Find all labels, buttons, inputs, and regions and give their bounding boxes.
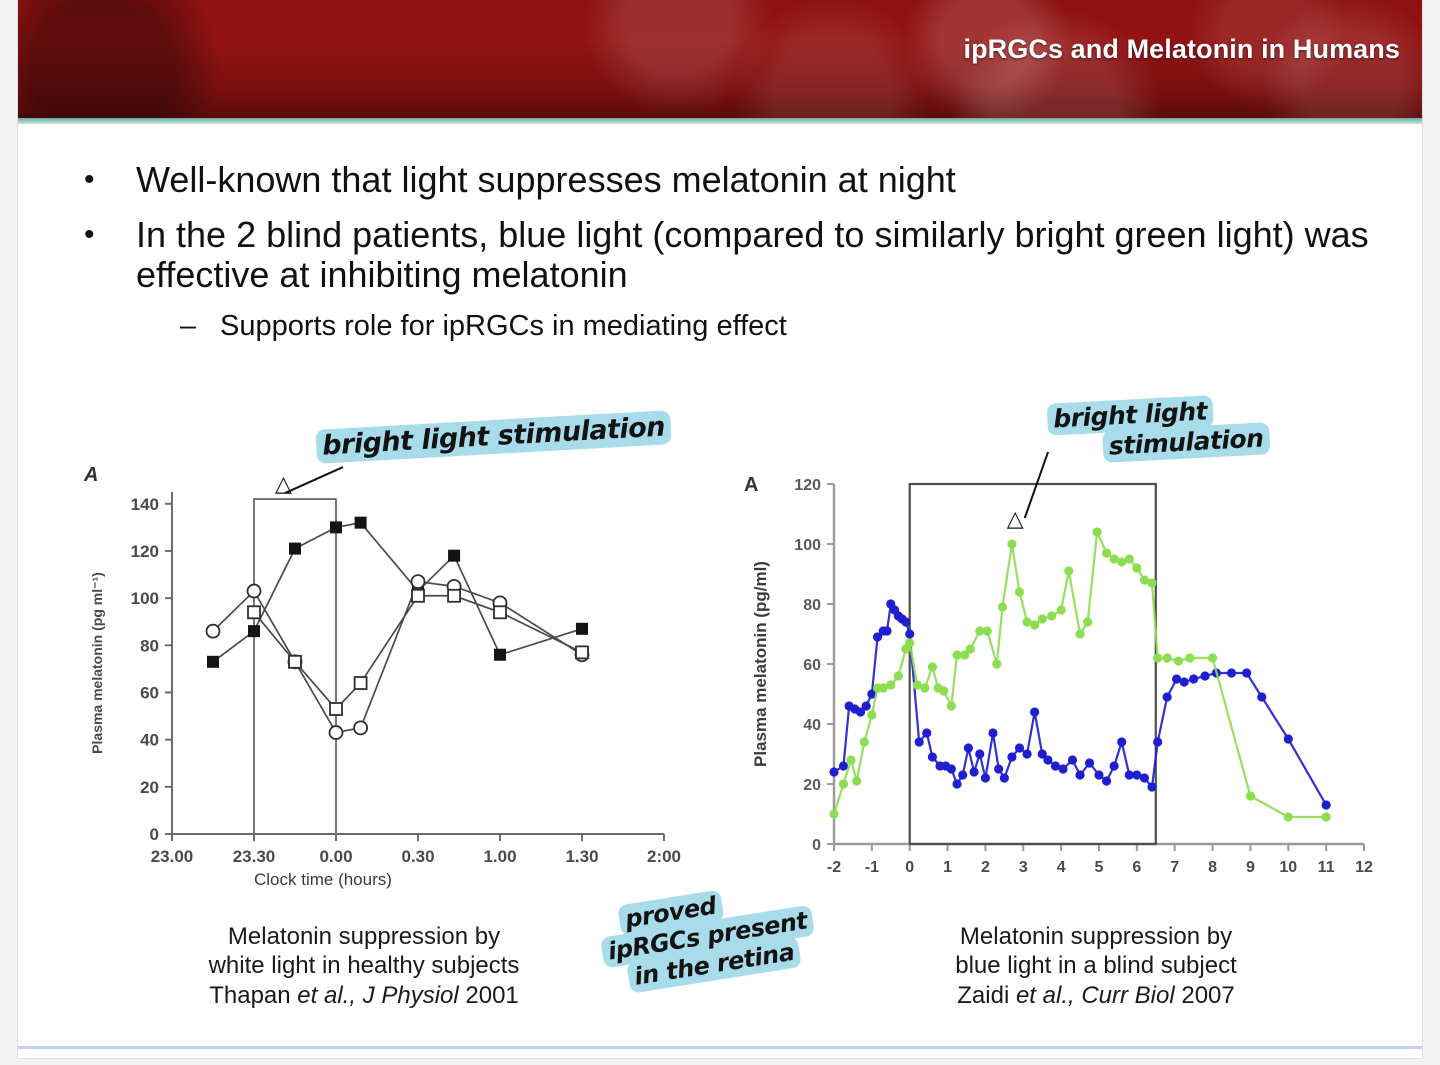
svg-text:2: 2	[981, 859, 990, 876]
svg-text:0.30: 0.30	[401, 847, 434, 866]
sub-bullet-item: – Supports role for ipRGCs in mediating …	[180, 310, 1384, 343]
slide-bottom-rule	[18, 1046, 1422, 1049]
page-title: ipRGCs and Melatonin in Humans	[963, 34, 1400, 65]
caption-line-1: Melatonin suppression by	[886, 922, 1306, 951]
left-panel-letter: A	[84, 464, 98, 487]
svg-text:120: 120	[131, 542, 159, 561]
svg-text:0.00: 0.00	[319, 847, 352, 866]
svg-text:6: 6	[1132, 859, 1141, 876]
svg-text:40: 40	[140, 731, 159, 750]
svg-text:Plasma melatonin (pg ml⁻¹): Plasma melatonin (pg ml⁻¹)	[89, 572, 105, 754]
caption-line-2: white light in healthy subjects	[154, 951, 574, 980]
header-underline	[18, 118, 1422, 124]
right-panel-letter: A	[744, 474, 758, 497]
caption-line-1: Melatonin suppression by	[154, 922, 574, 951]
right-figure-panel: A 020406080100120-2-10123456789101112Pla…	[724, 452, 1384, 892]
svg-text:20: 20	[803, 777, 821, 794]
right-chart: 020406080100120-2-10123456789101112Plasm…	[724, 452, 1384, 892]
svg-text:0: 0	[150, 825, 159, 844]
right-figure-caption: Melatonin suppression by blue light in a…	[886, 922, 1306, 1010]
caption-journal: Curr Biol	[1081, 982, 1174, 1009]
caption-author: Zaidi	[957, 982, 1009, 1009]
svg-text:40: 40	[803, 717, 821, 734]
dash-marker-icon: –	[180, 310, 220, 343]
caption-line-3: Thapan et al., J Physiol 2001	[154, 981, 574, 1010]
svg-text:23.00: 23.00	[151, 847, 194, 866]
svg-text:120: 120	[794, 477, 821, 494]
caption-etal: et al.,	[297, 982, 356, 1009]
svg-text:80: 80	[140, 636, 159, 655]
svg-text:10: 10	[1279, 859, 1297, 876]
caption-line-2: blue light in a blind subject	[886, 951, 1306, 980]
bullet-marker-icon: •	[84, 160, 136, 199]
caption-year: 2001	[465, 982, 518, 1009]
svg-text:△: △	[1007, 507, 1024, 532]
left-figure-panel: A 02040608010012014023.0023.300.000.301.…	[64, 452, 704, 892]
caption-author: Thapan	[209, 982, 290, 1009]
svg-text:0: 0	[905, 859, 914, 876]
svg-text:Plasma melatonin (pg/ml): Plasma melatonin (pg/ml)	[751, 561, 770, 767]
svg-text:11: 11	[1318, 859, 1335, 876]
left-figure-caption: Melatonin suppression by white light in …	[154, 922, 574, 1010]
svg-text:3: 3	[1019, 859, 1028, 876]
svg-text:1: 1	[943, 859, 952, 876]
svg-text:△: △	[275, 472, 292, 497]
svg-text:1.30: 1.30	[565, 847, 598, 866]
svg-text:7: 7	[1170, 859, 1179, 876]
bullet-item: • Well-known that light suppresses melat…	[84, 160, 1384, 201]
bullet-item: • In the 2 blind patients, blue light (c…	[84, 215, 1384, 296]
left-chart: 02040608010012014023.0023.300.000.301.00…	[64, 452, 684, 892]
caption-line-3: Zaidi et al., Curr Biol 2007	[886, 981, 1306, 1010]
svg-text:80: 80	[803, 597, 821, 614]
slide: ipRGCs and Melatonin in Humans • Well-kn…	[18, 0, 1422, 1058]
svg-text:23.30: 23.30	[233, 847, 276, 866]
svg-text:2:00: 2:00	[647, 847, 681, 866]
caption-etal: et al.,	[1016, 982, 1075, 1009]
svg-text:140: 140	[131, 495, 159, 514]
svg-text:0: 0	[812, 837, 821, 854]
handwritten-note-right: bright light stimulation	[1047, 394, 1270, 463]
svg-text:5: 5	[1095, 859, 1104, 876]
svg-text:-2: -2	[827, 859, 841, 876]
svg-text:60: 60	[803, 657, 821, 674]
sub-bullet-text: Supports role for ipRGCs in mediating ef…	[220, 310, 787, 343]
caption-year: 2007	[1181, 982, 1234, 1009]
svg-text:20: 20	[140, 778, 159, 797]
svg-text:8: 8	[1208, 859, 1217, 876]
svg-text:4: 4	[1057, 859, 1066, 876]
svg-text:12: 12	[1355, 859, 1373, 876]
bullet-text: Well-known that light suppresses melaton…	[136, 160, 1384, 201]
svg-text:-1: -1	[865, 859, 879, 876]
left-chart-xlabel: Clock time (hours)	[254, 870, 392, 890]
svg-text:9: 9	[1246, 859, 1255, 876]
bullet-marker-icon: •	[84, 215, 136, 254]
svg-text:1.00: 1.00	[483, 847, 516, 866]
bullet-list: • Well-known that light suppresses melat…	[84, 160, 1384, 343]
svg-text:100: 100	[794, 537, 821, 554]
svg-text:100: 100	[131, 589, 159, 608]
bullet-text: In the 2 blind patients, blue light (com…	[136, 215, 1384, 296]
caption-journal: J Physiol	[363, 982, 459, 1009]
slide-header-banner: ipRGCs and Melatonin in Humans	[18, 0, 1422, 118]
svg-text:60: 60	[140, 683, 159, 702]
